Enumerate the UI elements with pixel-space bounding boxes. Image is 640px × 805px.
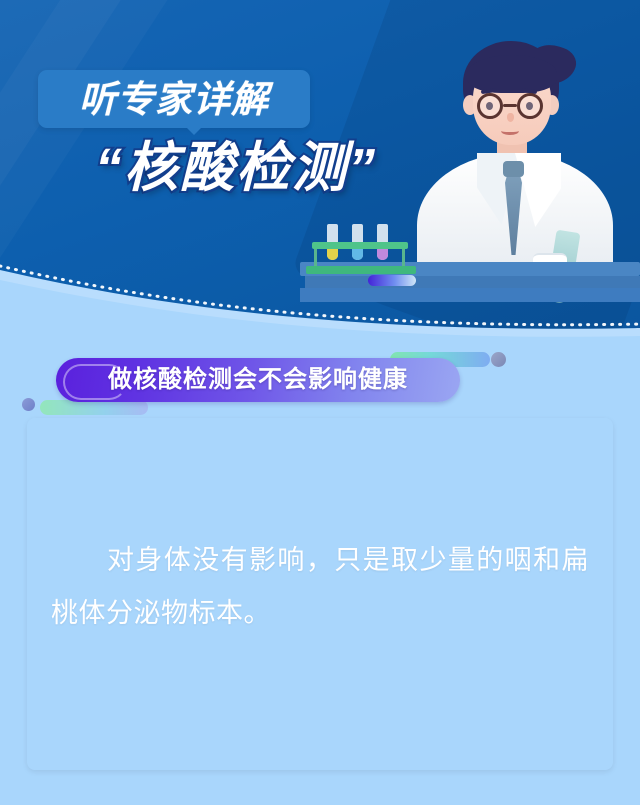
decor-bar-bottom [40,400,148,415]
content-card: 对身体没有影响，只是取少量的咽和扁桃体分泌物标本。 [27,418,613,770]
rack-top-bar [312,242,408,249]
page-title: “核酸检测” [56,140,416,197]
hero-wave-decoration [0,250,640,340]
title-banner: 听专家详解 [38,70,310,128]
title-banner-label: 听专家详解 [79,81,269,118]
decor-dot-right [491,352,506,367]
doctor-mouth [501,127,519,135]
doctor-nose [507,113,514,122]
title-banner-tail [185,126,203,135]
glasses-icon [477,93,503,119]
doctor-tie-knot [503,161,524,177]
hero-section: 听专家详解 “核酸检测” [0,0,640,340]
glasses-icon [517,93,543,119]
decor-bar-small [368,275,416,286]
section-header-pill: 做核酸检测会不会影响健康 [56,358,460,402]
content-body-text: 对身体没有影响，只是取少量的咽和扁桃体分泌物标本。 [51,534,589,639]
doctor-hair-fringe [467,55,557,93]
poster-root: 听专家详解 “核酸检测” 做核酸检测会不会影响健康 对身体没有影响，只是取少量的… [0,0,640,805]
section-header-label: 做核酸检测会不会影响健康 [108,368,408,392]
glasses-bridge [503,104,517,107]
decor-dot-left [22,398,35,411]
